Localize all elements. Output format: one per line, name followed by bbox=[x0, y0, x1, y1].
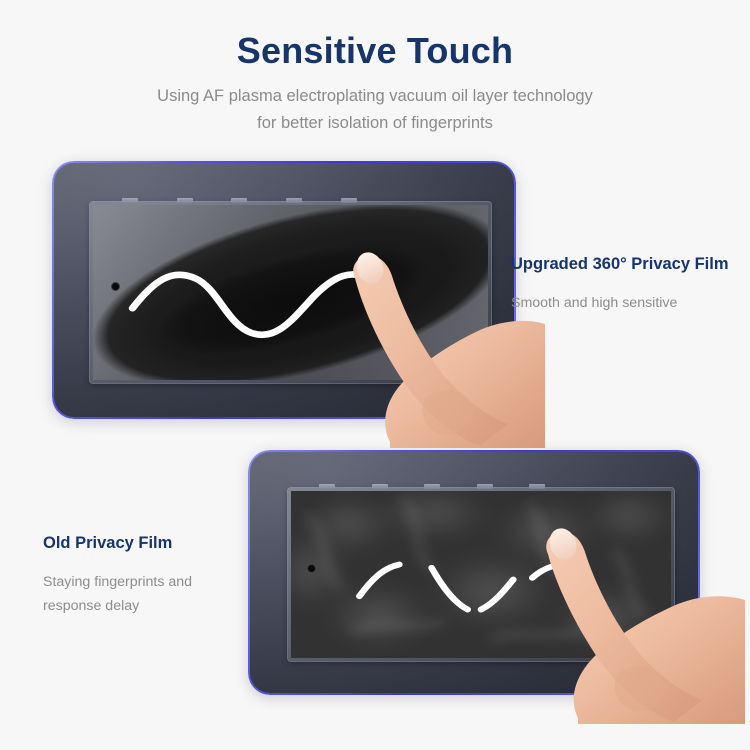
touch-trail-broken bbox=[291, 491, 671, 658]
callout-upgraded-film: Upgraded 360° Privacy Film Smooth and hi… bbox=[511, 254, 741, 315]
callout-title: Old Privacy Film bbox=[43, 533, 248, 554]
callout-old-film: Old Privacy Film Staying fingerprints an… bbox=[43, 533, 248, 619]
film-tab bbox=[424, 484, 440, 489]
screen-clean bbox=[93, 205, 488, 380]
callout-subtitle: Smooth and high sensitive bbox=[511, 291, 741, 316]
device-new-film bbox=[52, 161, 516, 419]
screen-smudged bbox=[291, 491, 671, 658]
device-old-film bbox=[248, 450, 700, 695]
touch-trail-smooth bbox=[93, 205, 488, 380]
page-title: Sensitive Touch bbox=[0, 0, 750, 70]
product-feature-banner: Sensitive Touch Using AF plasma electrop… bbox=[0, 0, 750, 750]
callout-title: Upgraded 360° Privacy Film bbox=[511, 254, 741, 275]
callout-subtitle: Staying fingerprints and response delay bbox=[43, 570, 248, 620]
callout-subtitle-line-1: Staying fingerprints and bbox=[43, 570, 248, 595]
film-tab bbox=[372, 484, 388, 489]
film-tab bbox=[529, 484, 545, 489]
header: Sensitive Touch Using AF plasma electrop… bbox=[0, 0, 750, 136]
film-tab bbox=[319, 484, 335, 489]
device-body bbox=[250, 452, 698, 693]
film-tab-group bbox=[319, 484, 558, 489]
film-tab bbox=[477, 484, 493, 489]
front-camera-icon bbox=[111, 282, 120, 291]
screen-protector-film-new bbox=[90, 202, 491, 383]
device-edge-glow bbox=[248, 450, 700, 695]
page-subtitle: Using AF plasma electroplating vacuum oi… bbox=[0, 83, 750, 136]
film-tab bbox=[122, 198, 138, 203]
subtitle-line-2: for better isolation of fingerprints bbox=[0, 110, 750, 137]
callout-subtitle-line-2: response delay bbox=[43, 594, 248, 619]
device-edge-glow bbox=[52, 161, 516, 419]
film-tab bbox=[231, 198, 247, 203]
film-tab-group bbox=[122, 198, 371, 203]
device-body bbox=[54, 163, 514, 417]
film-tab bbox=[177, 198, 193, 203]
screen-protector-film-old bbox=[288, 488, 674, 661]
film-tab bbox=[286, 198, 302, 203]
film-tab bbox=[341, 198, 357, 203]
subtitle-line-1: Using AF plasma electroplating vacuum oi… bbox=[0, 83, 750, 110]
